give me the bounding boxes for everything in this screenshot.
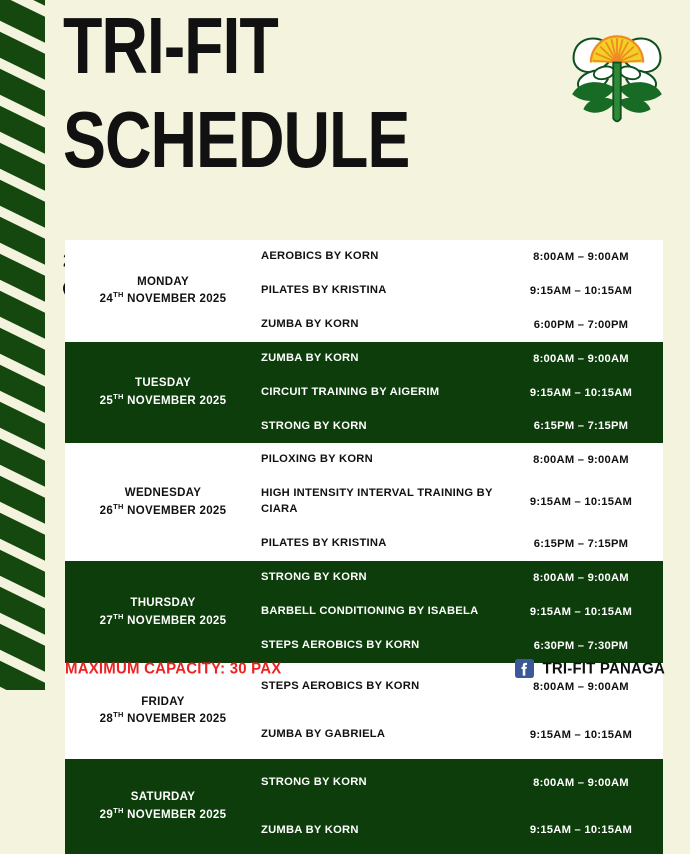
session-entry: STRONG BY KORN8:00AM – 9:00AM [261,759,663,807]
day-name: TUESDAY [135,375,191,392]
day-date: 25TH NOVEMBER 2025 [100,392,227,410]
session-class-name: PILATES BY KRISTINA [261,536,501,552]
session-time: 8:00AM – 9:00AM [501,777,661,789]
session-time: 9:15AM – 10:15AM [501,387,661,399]
day-name: SATURDAY [131,789,195,806]
session-class-name: STEPS AEROBICS BY KORN [261,638,501,654]
session-time: 9:15AM – 10:15AM [501,285,661,297]
session-entry: ZUMBA BY KORN8:00AM – 9:00AM [261,342,663,376]
table-row: THURSDAY27TH NOVEMBER 2025STRONG BY KORN… [65,561,663,663]
session-list: STRONG BY KORN8:00AM – 9:00AMBARBELL CON… [261,561,663,663]
day-date: 29TH NOVEMBER 2025 [100,806,227,824]
day-date: 28TH NOVEMBER 2025 [100,710,227,728]
table-row: WEDNESDAY26TH NOVEMBER 2025PILOXING BY K… [65,443,663,561]
session-class-name: CIRCUIT TRAINING BY AIGERIM [261,385,501,401]
day-cell: TUESDAY25TH NOVEMBER 2025 [65,342,261,444]
day-cell: THURSDAY27TH NOVEMBER 2025 [65,561,261,663]
session-entry: BARBELL CONDITIONING BY ISABELA9:15AM – … [261,595,663,629]
schedule-table: MONDAY24TH NOVEMBER 2025AEROBICS BY KORN… [65,240,663,854]
facebook-icon[interactable] [515,659,534,678]
session-time: 9:15AM – 10:15AM [501,824,661,836]
session-time: 8:00AM – 9:00AM [501,572,661,584]
day-date: 24TH NOVEMBER 2025 [100,290,227,308]
session-class-name: ZUMBA BY KORN [261,317,501,333]
session-class-name: PILOXING BY KORN [261,452,501,468]
max-capacity-note: MAXIMUM CAPACITY: 30 PAX [65,659,281,677]
session-list: AEROBICS BY KORN8:00AM – 9:00AMPILATES B… [261,240,663,342]
session-entry: PILATES BY KRISTINA9:15AM – 10:15AM [261,274,663,308]
session-list: PILOXING BY KORN8:00AM – 9:00AMHIGH INTE… [261,443,663,561]
poster-footer: MAXIMUM CAPACITY: 30 PAX TRI-FIT PANAGA [65,659,665,678]
day-name: FRIDAY [141,694,185,711]
session-class-name: AEROBICS BY KORN [261,249,501,265]
day-cell: WEDNESDAY26TH NOVEMBER 2025 [65,443,261,561]
session-entry: CIRCUIT TRAINING BY AIGERIM9:15AM – 10:1… [261,376,663,410]
session-list: ZUMBA BY KORN8:00AM – 9:00AMCIRCUIT TRAI… [261,342,663,444]
day-name: THURSDAY [130,595,195,612]
session-entry: PILOXING BY KORN8:00AM – 9:00AM [261,443,663,477]
session-class-name: HIGH INTENSITY INTERVAL TRAINING BY CIAR… [261,486,501,518]
session-class-name: ZUMBA BY KORN [261,823,501,839]
day-cell: MONDAY24TH NOVEMBER 2025 [65,240,261,342]
session-entry: AEROBICS BY KORN8:00AM – 9:00AM [261,240,663,274]
session-time: 6:00PM – 7:00PM [501,319,661,331]
session-time: 6:15PM – 7:15PM [501,538,661,550]
day-name: MONDAY [137,274,189,291]
flower-logo-icon [561,14,673,126]
session-time: 9:15AM – 10:15AM [501,606,661,618]
session-entry: PILATES BY KRISTINA6:15PM – 7:15PM [261,527,663,561]
table-row: MONDAY24TH NOVEMBER 2025AEROBICS BY KORN… [65,240,663,342]
day-date: 26TH NOVEMBER 2025 [100,502,227,520]
session-time: 9:15AM – 10:15AM [501,729,661,741]
table-row: TUESDAY25TH NOVEMBER 2025ZUMBA BY KORN8:… [65,342,663,444]
session-time: 8:00AM – 9:00AM [501,454,661,466]
session-class-name: BARBELL CONDITIONING BY ISABELA [261,604,501,620]
session-entry: ZUMBA BY KORN9:15AM – 10:15AM [261,807,663,854]
session-class-name: STRONG BY KORN [261,419,501,435]
session-class-name: PILATES BY KRISTINA [261,283,501,299]
session-time: 6:30PM – 7:30PM [501,640,661,652]
session-class-name: ZUMBA BY GABRIELA [261,727,501,743]
day-cell: SATURDAY29TH NOVEMBER 2025 [65,759,261,854]
session-class-name: STRONG BY KORN [261,570,501,586]
session-entry: STEPS AEROBICS BY KORN6:30PM – 7:30PM [261,629,663,663]
session-entry: STRONG BY KORN8:00AM – 9:00AM [261,561,663,595]
session-class-name: STRONG BY KORN [261,775,501,791]
day-name: WEDNESDAY [125,485,201,502]
session-class-name: STEPS AEROBICS BY KORN [261,679,501,695]
session-list: STRONG BY KORN8:00AM – 9:00AMZUMBA BY KO… [261,759,663,854]
session-time: 8:00AM – 9:00AM [501,251,661,263]
session-entry: ZUMBA BY KORN6:00PM – 7:00PM [261,308,663,342]
session-class-name: ZUMBA BY KORN [261,351,501,367]
decorative-stripe-band [0,0,45,690]
session-entry: STRONG BY KORN6:15PM – 7:15PM [261,410,663,444]
table-row: SATURDAY29TH NOVEMBER 2025STRONG BY KORN… [65,759,663,854]
session-time: 6:15PM – 7:15PM [501,420,661,432]
day-date: 27TH NOVEMBER 2025 [100,612,227,630]
session-entry: ZUMBA BY GABRIELA9:15AM – 10:15AM [261,711,663,759]
social-handle-group: TRI-FIT PANAGA [515,659,665,678]
session-time: 8:00AM – 9:00AM [501,353,661,365]
session-entry: HIGH INTENSITY INTERVAL TRAINING BY CIAR… [261,477,663,527]
facebook-handle: TRI-FIT PANAGA [542,659,665,677]
session-time: 9:15AM – 10:15AM [501,496,661,508]
session-time: 8:00AM – 9:00AM [501,681,661,693]
